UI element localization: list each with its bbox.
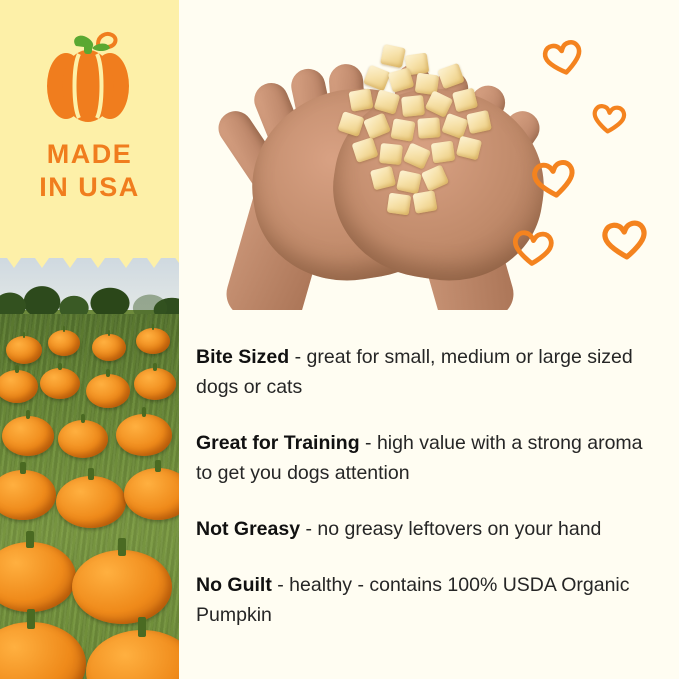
feature-text: - no greasy leftovers on your hand [300,518,601,540]
made-in-usa-badge: MADE IN USA [0,0,179,258]
treat-cube [374,89,401,114]
treat-cube [363,65,391,92]
treat-cube [437,63,465,89]
feature-item: No Guilt - healthy - contains 100% USDA … [196,570,662,630]
heart-icon [510,224,557,271]
pumpkin [116,414,172,456]
heart-icon [589,98,629,138]
heart-icon [528,152,580,204]
feature-title: No Guilt [196,574,272,596]
feature-item: Bite Sized - great for small, medium or … [196,342,662,402]
pumpkin-icon [36,28,140,124]
pumpkin [2,416,54,456]
pumpkin [58,420,108,458]
treat-cube [403,142,431,169]
hands-illustration [234,0,554,304]
feature-title: Great for Training [196,432,360,454]
pumpkin-patch-photo [0,258,179,679]
treat-cube [466,110,492,134]
treat-cube [390,118,415,142]
feature-title: Not Greasy [196,518,300,540]
pumpkin [136,328,170,354]
treat-cube [421,164,449,191]
feature-title: Bite Sized [196,346,289,368]
zigzag-divider [0,248,179,268]
treat-cube [412,190,437,214]
heart-icon [599,213,652,266]
made-in-usa-line2: IN USA [0,171,179,204]
freeze-dried-pumpkin-cubes [320,44,510,219]
pumpkin [40,368,80,399]
treat-cube [337,111,364,137]
treat-cube [351,137,378,163]
made-in-usa-line1: MADE [0,138,179,171]
treat-cube [452,88,478,113]
pumpkin [72,550,172,624]
treat-cube [417,117,440,138]
treat-cube [387,193,412,216]
feature-item: Not Greasy - no greasy leftovers on your… [196,514,662,544]
treat-cube [379,143,403,165]
treat-cube [363,113,391,140]
treat-cube [456,136,482,161]
treat-cube [396,170,422,194]
treat-cube [401,95,425,117]
treat-cube [380,44,406,68]
product-feature-poster: MADE IN USA [0,0,679,679]
treat-cube [441,113,469,139]
feature-list: Bite Sized - great for small, medium or … [196,322,662,656]
hands-with-treats-photo [179,0,679,310]
pumpkin [134,368,176,400]
treat-cube [348,88,373,112]
pumpkin [56,476,126,528]
left-column: MADE IN USA [0,0,179,679]
pumpkin [48,330,80,356]
treat-cube [431,141,456,164]
feature-item: Great for Training - high value with a s… [196,428,662,488]
treat-cube [370,166,396,191]
pumpkin [6,336,42,364]
made-in-usa-text: MADE IN USA [0,138,179,204]
pumpkin [86,374,130,408]
heart-icon [538,32,588,82]
pumpkin [92,334,126,361]
